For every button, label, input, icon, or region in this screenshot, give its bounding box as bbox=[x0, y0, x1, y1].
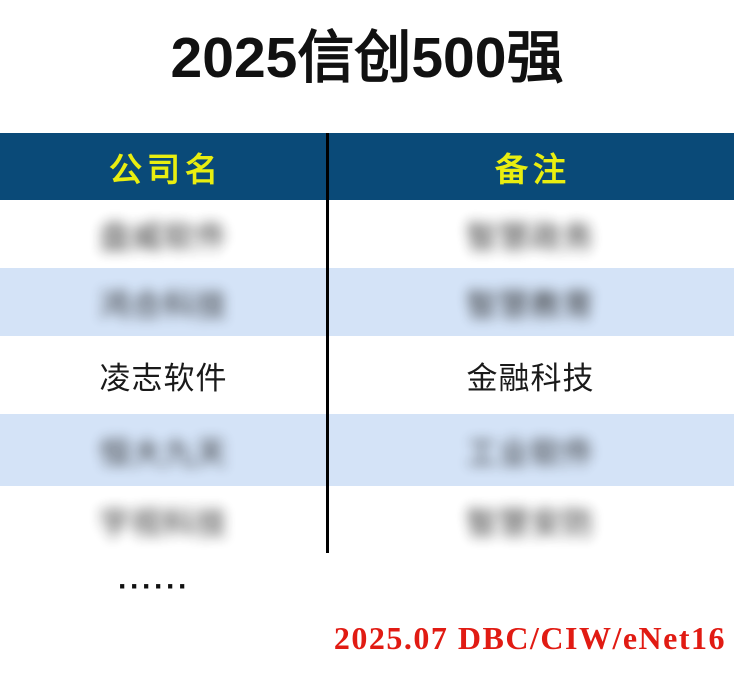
cell-company: 恒大九天 bbox=[0, 414, 327, 486]
page-title: 2025信创500强 bbox=[0, 22, 734, 94]
continuation-ellipsis: ······ bbox=[118, 570, 190, 604]
table-row: 凌志软件 金融科技 bbox=[0, 336, 734, 414]
poster-canvas: 2025信创500强 公司名 备注 盘威软件 智慧政务 鸿合科技 智慧教育 凌志… bbox=[0, 0, 734, 699]
table-row: 盘威软件 智慧政务 bbox=[0, 200, 734, 268]
ranking-table: 公司名 备注 盘威软件 智慧政务 鸿合科技 智慧教育 凌志软件 金融科技 恒大九… bbox=[0, 133, 734, 554]
column-divider bbox=[326, 133, 329, 553]
footer-credit: 2025.07 DBC/CIW/eNet16 bbox=[334, 618, 726, 658]
cell-company: 宇视科技 bbox=[0, 486, 327, 554]
cell-company: 盘威软件 bbox=[0, 200, 327, 268]
table-row: 宇视科技 智慧安防 bbox=[0, 486, 734, 554]
cell-note: 金融科技 bbox=[327, 336, 734, 414]
table-header-row: 公司名 备注 bbox=[0, 133, 734, 200]
cell-note: 智慧安防 bbox=[327, 486, 734, 554]
cell-note: 智慧教育 bbox=[327, 268, 734, 336]
column-header-company: 公司名 bbox=[0, 133, 327, 200]
cell-note: 工业软件 bbox=[327, 414, 734, 486]
cell-note: 智慧政务 bbox=[327, 200, 734, 268]
table-row: 恒大九天 工业软件 bbox=[0, 414, 734, 486]
column-header-note: 备注 bbox=[327, 133, 734, 200]
table-row: 鸿合科技 智慧教育 bbox=[0, 268, 734, 336]
cell-company: 凌志软件 bbox=[0, 336, 327, 414]
cell-company: 鸿合科技 bbox=[0, 268, 327, 336]
